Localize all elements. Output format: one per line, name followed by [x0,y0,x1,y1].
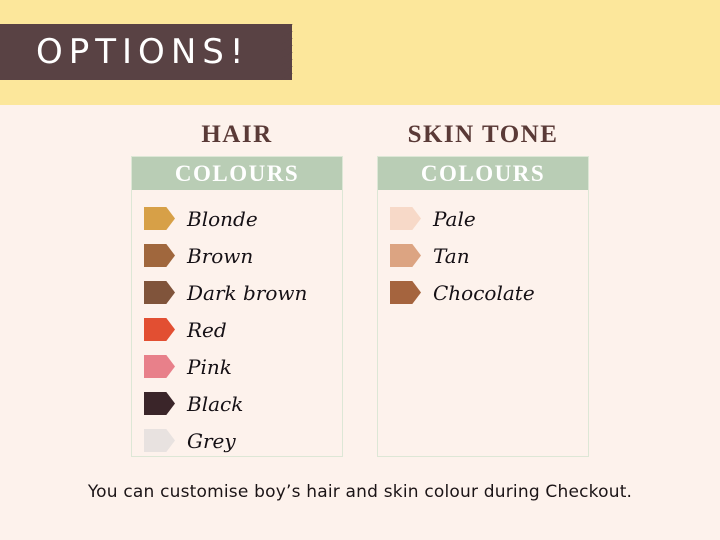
list-item[interactable]: Tan [390,237,588,274]
colour-swatch-icon [144,244,175,267]
list-item[interactable]: Blonde [144,200,342,237]
colour-swatch-icon [144,207,175,230]
swatch-label: Grey [187,431,236,451]
list-item[interactable]: Black [144,385,342,422]
footer: You can customise boy’s hair and skin co… [0,482,720,502]
swatch-label: Blonde [187,209,258,229]
list-item[interactable]: Grey [144,422,342,459]
colour-swatch-icon [390,281,421,304]
colour-swatch-icon [144,355,175,378]
skin-tone-colours-card: COLOURS Pale Tan Chocolate [377,156,589,457]
column-skin-tone: SKIN TONE COLOURS Pale Tan Chocolate [377,122,589,457]
column-title-skin-tone: SKIN TONE [377,122,589,147]
ribbon-torn-edge-icon [280,24,293,80]
skin-tone-swatch-list: Pale Tan Chocolate [378,190,588,311]
swatch-label: Chocolate [433,283,535,303]
list-item[interactable]: Chocolate [390,274,588,311]
list-item[interactable]: Pale [390,200,588,237]
colour-swatch-icon [144,392,175,415]
swatch-label: Dark brown [187,283,307,303]
colour-swatch-icon [390,244,421,267]
footer-note: You can customise boy’s hair and skin co… [88,482,632,502]
swatch-label: Tan [433,246,470,266]
swatch-label: Black [187,394,243,414]
colour-swatch-icon [390,207,421,230]
swatch-label: Pale [433,209,476,229]
skin-tone-card-header: COLOURS [378,157,588,190]
options-ribbon: OPTIONS! [0,24,292,80]
column-title-hair: HAIR [131,122,343,147]
colour-swatch-icon [144,429,175,452]
hair-swatch-list: Blonde Brown Dark brown Red Pink [132,190,342,459]
top-yellow-band: OPTIONS! [0,0,720,105]
list-item[interactable]: Red [144,311,342,348]
list-item[interactable]: Pink [144,348,342,385]
colour-swatch-icon [144,281,175,304]
options-title: OPTIONS! [0,35,249,69]
list-item[interactable]: Brown [144,237,342,274]
colour-option-columns: HAIR COLOURS Blonde Brown Dark brown [0,122,720,457]
swatch-label: Brown [187,246,253,266]
colour-swatch-icon [144,318,175,341]
list-item[interactable]: Dark brown [144,274,342,311]
hair-card-header: COLOURS [132,157,342,190]
swatch-label: Pink [187,357,232,377]
hair-colours-card: COLOURS Blonde Brown Dark brown Red [131,156,343,457]
column-hair: HAIR COLOURS Blonde Brown Dark brown [131,122,343,457]
skin-tone-card-header-label: COLOURS [421,162,545,185]
hair-card-header-label: COLOURS [175,162,299,185]
swatch-label: Red [187,320,227,340]
